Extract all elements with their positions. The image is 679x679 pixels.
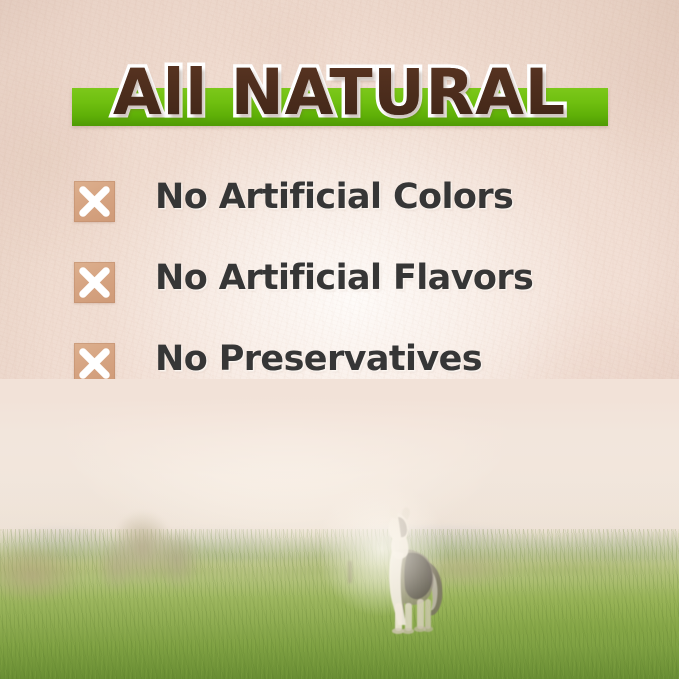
x-mark-icon (74, 181, 115, 222)
list-item: No Artificial Flavors (74, 262, 614, 343)
distant-post (348, 561, 352, 583)
headline-block: All NATURAL All NATURAL (0, 52, 679, 132)
claim-label: No Artificial Colors (155, 177, 513, 217)
claim-label: No Preservatives (155, 339, 482, 379)
x-mark-icon (74, 343, 115, 384)
bush (90, 495, 222, 607)
dog-silhouette (368, 507, 448, 643)
page-title: All NATURAL (0, 52, 679, 132)
claim-label: No Artificial Flavors (155, 258, 533, 298)
dog-in-field-photo (0, 379, 679, 679)
product-feature-poster: All NATURAL All NATURAL No Artificial Co… (0, 0, 679, 679)
list-item: No Artificial Colors (74, 181, 614, 262)
x-mark-icon (74, 262, 115, 303)
